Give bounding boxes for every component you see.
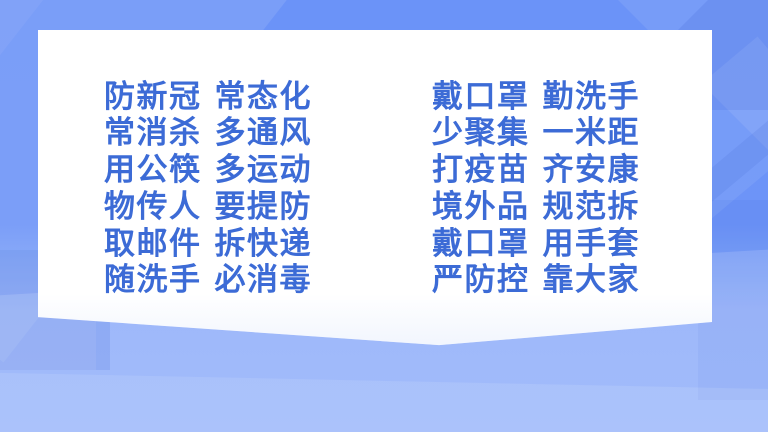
slogan-row: 随洗手 必消毒 严防控 靠大家 xyxy=(38,261,712,298)
slogan-right-column: 打疫苗 齐安康 xyxy=(384,154,712,185)
slogan-phrase: 拆快递 xyxy=(215,228,313,259)
slogan-right-column: 严防控 靠大家 xyxy=(384,264,712,295)
poster-canvas: 防新冠 常态化 戴口罩 勤洗手 常消杀 多通风 少聚集 一米距 用公筷 多运动 xyxy=(0,0,768,432)
slogan-phrase: 靠大家 xyxy=(543,264,641,295)
slogan-right-column: 境外品 规范拆 xyxy=(384,191,712,222)
slogan-phrase: 规范拆 xyxy=(543,191,641,222)
slogan-row: 用公筷 多运动 打疫苗 齐安康 xyxy=(38,151,712,188)
slogan-right-column: 戴口罩 用手套 xyxy=(384,228,712,259)
slogan-phrase: 用公筷 xyxy=(104,154,202,185)
slogan-right-column: 戴口罩 勤洗手 xyxy=(384,81,712,112)
slogan-phrase: 必消毒 xyxy=(215,264,313,295)
slogan-phrase: 勤洗手 xyxy=(543,81,641,112)
slogan-phrase: 打疫苗 xyxy=(432,154,530,185)
slogan-phrase: 多运动 xyxy=(215,154,313,185)
slogan-phrase: 防新冠 xyxy=(104,81,202,112)
slogan-phrase: 常态化 xyxy=(215,81,313,112)
slogan-phrase: 要提防 xyxy=(215,191,313,222)
slogan-row: 取邮件 拆快递 戴口罩 用手套 xyxy=(38,225,712,262)
slogan-left-column: 防新冠 常态化 xyxy=(38,81,384,112)
slogan-right-column: 少聚集 一米距 xyxy=(384,117,712,148)
slogan-phrase: 取邮件 xyxy=(104,228,202,259)
slogan-row: 常消杀 多通风 少聚集 一米距 xyxy=(38,115,712,152)
slogan-phrase: 戴口罩 xyxy=(432,228,530,259)
slogan-left-column: 随洗手 必消毒 xyxy=(38,264,384,295)
slogan-phrase: 齐安康 xyxy=(543,154,641,185)
slogan-row: 防新冠 常态化 戴口罩 勤洗手 xyxy=(38,78,712,115)
bottom-diagonal-sweep-lower xyxy=(0,372,768,432)
slogan-left-column: 用公筷 多运动 xyxy=(38,154,384,185)
slogan-phrase: 少聚集 xyxy=(432,117,530,148)
slogan-phrase: 多通风 xyxy=(215,117,313,148)
slogan-phrase: 戴口罩 xyxy=(432,81,530,112)
slogan-left-column: 物传人 要提防 xyxy=(38,191,384,222)
slogan-phrase: 境外品 xyxy=(432,191,530,222)
slogan-row: 物传人 要提防 境外品 规范拆 xyxy=(38,188,712,225)
slogan-phrase: 一米距 xyxy=(543,117,641,148)
slogan-phrase: 严防控 xyxy=(432,264,530,295)
slogan-phrase: 用手套 xyxy=(543,228,641,259)
slogan-phrase: 常消杀 xyxy=(104,117,202,148)
slogan-left-column: 常消杀 多通风 xyxy=(38,117,384,148)
slogan-phrase: 物传人 xyxy=(104,191,202,222)
slogan-grid: 防新冠 常态化 戴口罩 勤洗手 常消杀 多通风 少聚集 一米距 用公筷 多运动 xyxy=(38,30,712,298)
slogan-phrase: 随洗手 xyxy=(104,264,202,295)
slogan-left-column: 取邮件 拆快递 xyxy=(38,228,384,259)
